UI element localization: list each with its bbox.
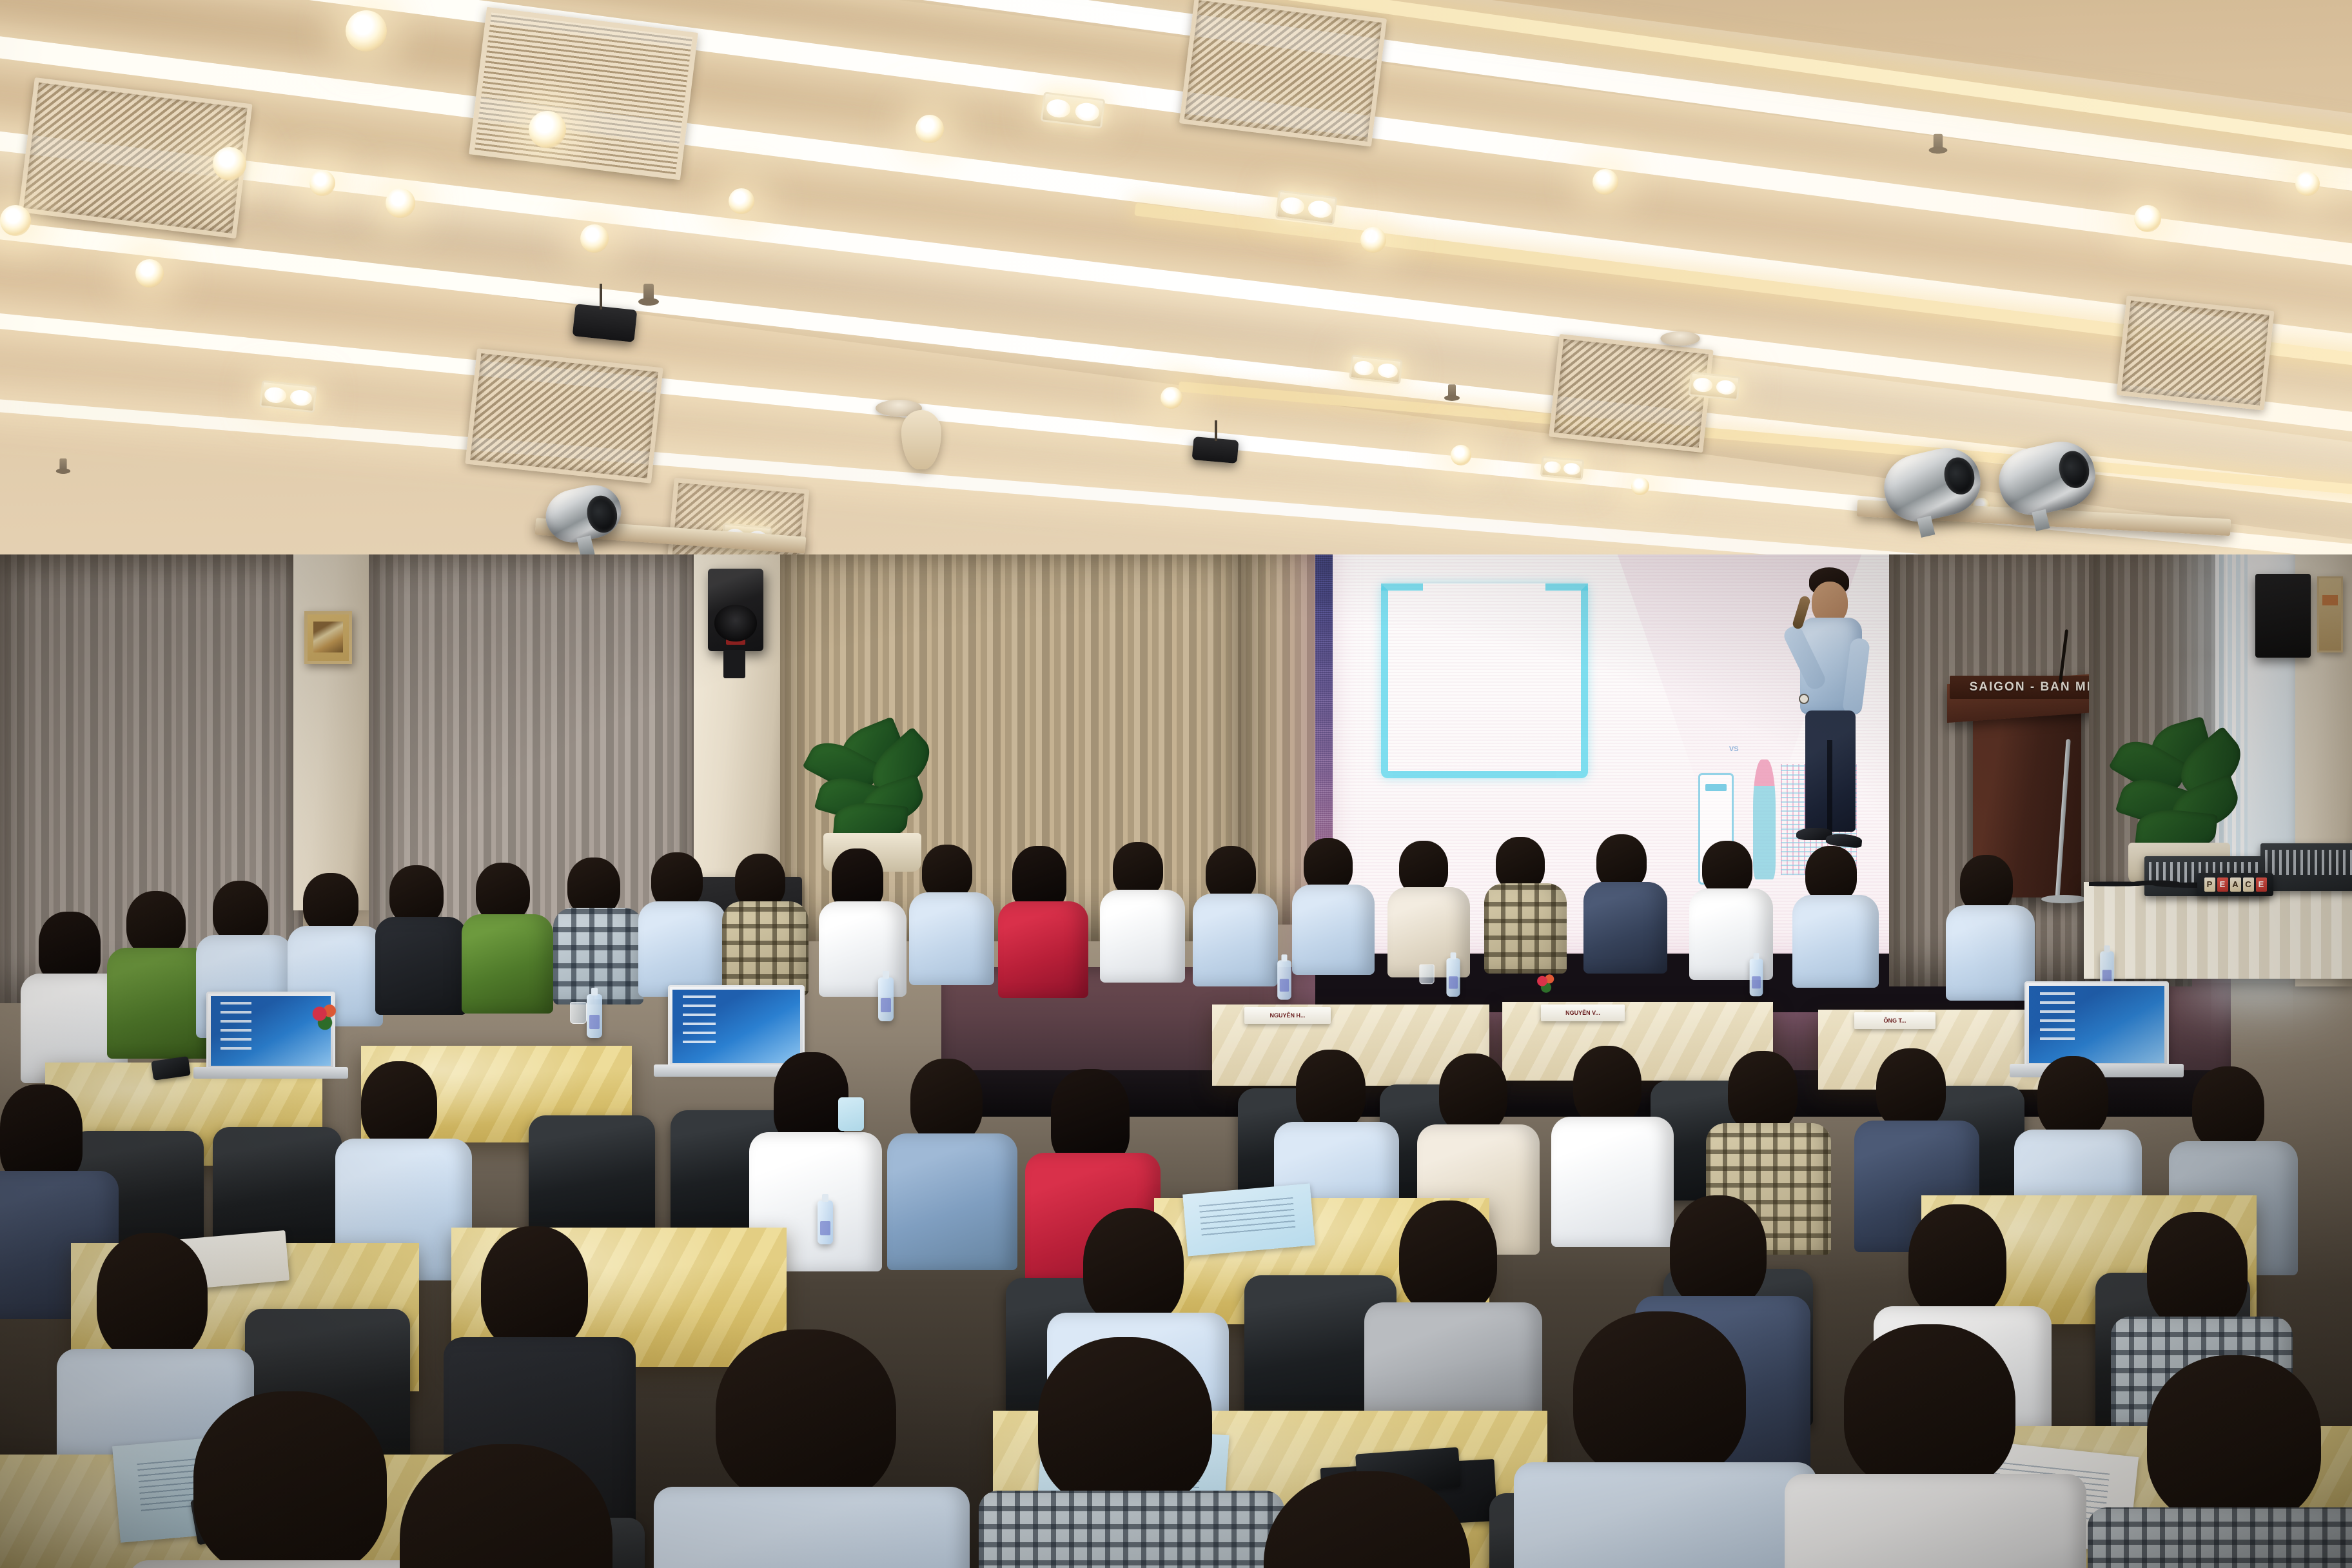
attendee-shirt: [1292, 885, 1375, 975]
attendee-head: [832, 848, 883, 909]
attendee-head: [774, 1052, 848, 1142]
water-bottle: [878, 977, 894, 1021]
attendee-head: [1399, 1200, 1497, 1315]
ceiling-twin-spotlight: [1540, 456, 1585, 480]
ceiling: [0, 0, 2352, 619]
attendee-head: [389, 865, 444, 925]
ceiling-downlight: [135, 259, 164, 288]
laptop: [2024, 981, 2169, 1068]
bracket-top-left: [1381, 583, 1424, 591]
attendee-head: [1805, 846, 1857, 903]
ceiling-downlight: [916, 115, 944, 143]
ceiling-downlight: [386, 188, 415, 218]
ceiling-downlight: [2134, 205, 2161, 232]
attendee-shirt-plaid: [1484, 883, 1567, 974]
laptop: [668, 985, 805, 1068]
nameplate: NGUYỄN V...: [1541, 1004, 1625, 1021]
ceiling-downlight: [2295, 171, 2320, 196]
attendee-head: [716, 1329, 896, 1505]
water-bottle: [587, 994, 602, 1038]
ceiling-cone-speaker: [901, 410, 941, 469]
sprinkler-head: [59, 458, 66, 474]
attendee-shirt: [1583, 882, 1667, 974]
attendee-shirt-plaid: [722, 901, 808, 995]
attendee-head: [2192, 1066, 2264, 1150]
ceiling-downlight: [529, 111, 566, 148]
water-bottle: [818, 1200, 833, 1244]
attendee-shirt: [638, 901, 726, 997]
chair: [529, 1115, 655, 1246]
projector-mount: [600, 284, 602, 309]
ceiling-downlight: [1631, 477, 1649, 495]
ceiling-downlight: [346, 10, 387, 52]
drinking-glass: [570, 1002, 587, 1024]
attendee-shirt-plaid: [2088, 1507, 2352, 1568]
laptop-base: [193, 1067, 349, 1079]
attendee-shirt: [654, 1487, 970, 1568]
ceiling-downlight: [1451, 445, 1471, 465]
sprinkler-head: [1448, 384, 1456, 401]
table-flowers: [1534, 972, 1558, 994]
attendee-head: [213, 881, 268, 943]
attendee-shirt: [1551, 1117, 1674, 1247]
attendee-shirt: [1514, 1462, 1817, 1568]
attendee-head: [126, 891, 186, 955]
smoke-detector: [1660, 331, 1700, 346]
attendee-head: [567, 857, 620, 916]
table-flowers: [308, 1002, 342, 1032]
attendee-head: [1038, 1337, 1212, 1509]
attendee-head: [651, 852, 703, 909]
room-body: KHÁI NIỆM VỀ THƯƠNG MẠI ĐIỆN TỬ VS: [0, 554, 2352, 1568]
ceiling-downlight: [1592, 169, 1618, 195]
attendee-head: [303, 873, 358, 934]
attendee-shirt: [887, 1133, 1017, 1270]
attendee-head: [1670, 1195, 1767, 1309]
attendee-head: [1051, 1069, 1130, 1164]
ceiling-downlight: [1161, 387, 1182, 409]
attendee-head: [1876, 1048, 1946, 1130]
attendee-uniform-green: [462, 914, 553, 1014]
attendee-shirt: [1785, 1474, 2086, 1568]
nameplate: NGUYỄN H...: [1244, 1007, 1331, 1024]
attendee-head: [1296, 1050, 1366, 1131]
ceiling-twin-spotlight: [259, 380, 317, 413]
ceiling-downlight: [1360, 227, 1386, 253]
attendee-shirt: [1100, 890, 1185, 983]
attendee-shirt: [1946, 905, 2035, 1001]
attendee-head: [2147, 1212, 2248, 1329]
attendee-head: [1960, 855, 2013, 913]
conference-room-scene: KHÁI NIỆM VỀ THƯƠNG MẠI ĐIỆN TỬ VS: [0, 0, 2352, 1568]
laptop-screen: [672, 990, 800, 1063]
attendee-head: [97, 1233, 208, 1362]
ceiling-downlight: [213, 147, 246, 181]
ceiling-twin-spotlight: [1688, 371, 1741, 401]
nameplate: ÔNG T...: [1854, 1012, 1935, 1029]
projector-mount: [1215, 420, 1217, 441]
attendee-head: [193, 1391, 387, 1568]
attendee-head: [361, 1061, 437, 1149]
laptop-screen: [2029, 986, 2164, 1063]
attendee-shirt: [909, 892, 994, 985]
attendee-shirt-plaid: [979, 1491, 1284, 1568]
water-bottle: [1750, 959, 1763, 996]
attendee-head: [1573, 1046, 1641, 1126]
attendee-head: [1439, 1053, 1507, 1133]
ac-vent: [465, 348, 663, 483]
ceiling-projector: [573, 304, 638, 342]
ac-vent: [469, 7, 698, 181]
attendee-head: [39, 912, 101, 981]
sprinkler-head: [1934, 134, 1943, 154]
attendee-head: [1728, 1051, 1798, 1132]
attendee-head: [2037, 1056, 2108, 1139]
attendee-head: [2147, 1355, 2321, 1525]
attendee-shirt: [375, 917, 467, 1015]
attendee-shirt-red: [998, 901, 1088, 998]
ceiling-downlight: [580, 224, 609, 253]
attendee-shirt: [1193, 894, 1278, 986]
document-blue: [1182, 1184, 1315, 1257]
face-mask: [838, 1097, 864, 1131]
ac-vent: [1179, 0, 1387, 147]
ceiling-downlight: [309, 170, 335, 196]
audience-area: NGUYỄN H... NGUYỄN V... ÔNG T...: [0, 633, 2352, 1568]
attendee-head: [476, 863, 530, 922]
ceiling-downlight: [729, 188, 754, 214]
attendee-head: [1908, 1204, 2006, 1319]
attendee-head: [481, 1226, 588, 1351]
attendee-head: [1573, 1311, 1746, 1480]
attendee-head: [910, 1059, 983, 1144]
attendee-head: [0, 1084, 83, 1182]
attendee-shirt: [1792, 895, 1879, 988]
attendee-head: [1844, 1324, 2015, 1492]
ac-vent: [2117, 295, 2275, 410]
ceiling-downlight: [0, 205, 31, 236]
attendee-head: [1012, 846, 1066, 909]
attendee-head: [1083, 1208, 1184, 1326]
bracket-top-right: [1545, 583, 1588, 591]
attendee-shirt-plaid: [553, 908, 643, 1004]
sprinkler-head: [643, 284, 654, 306]
water-bottle: [1277, 960, 1291, 999]
drinking-glass: [1419, 965, 1434, 985]
water-bottle: [1446, 958, 1460, 997]
